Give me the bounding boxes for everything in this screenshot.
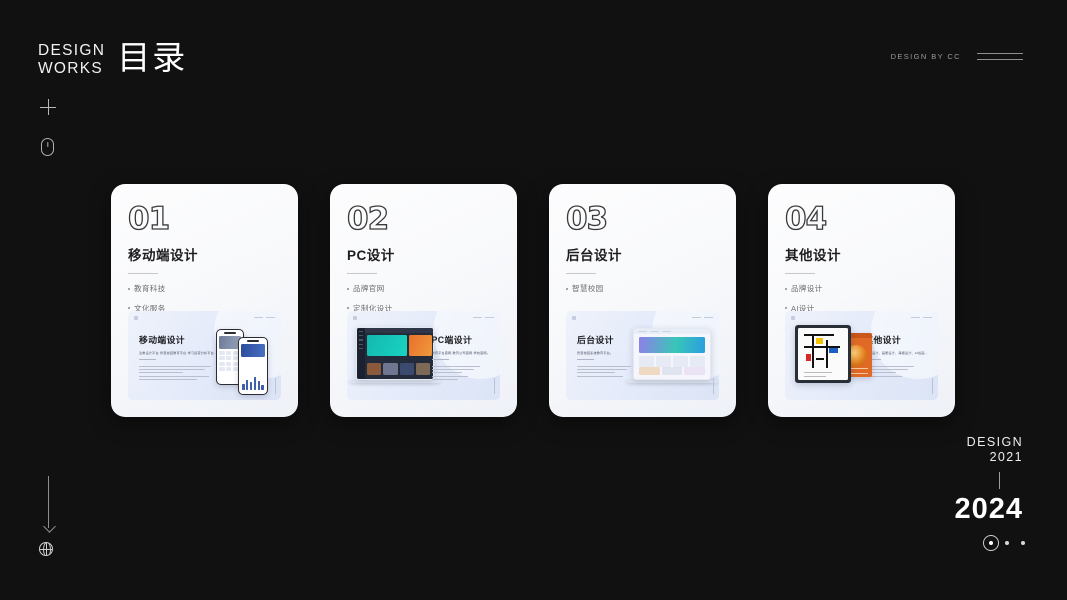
credit-text: DESIGN BY CC (891, 52, 961, 61)
globe-icon[interactable] (39, 542, 53, 556)
pagination[interactable] (989, 541, 1025, 545)
page-title: 目录 (117, 40, 187, 76)
card-bullet: 智慧校园 (566, 285, 719, 293)
card-divider (566, 273, 596, 274)
laptop-mockup (356, 327, 434, 383)
year-divider (999, 472, 1000, 489)
mouse-scroll-icon[interactable] (41, 138, 54, 156)
thumbnail-nav-lines (911, 317, 932, 318)
card-divider (128, 273, 158, 274)
card-bullet-list: 智慧校园 (566, 285, 719, 293)
card-bullet: 教育科技 (128, 285, 281, 293)
design-label: DESIGN (954, 435, 1023, 450)
card-title: PC设计 (347, 244, 500, 264)
thumbnail-subtitle: Logo设计、画册设计、海报设计、AI绘画… (864, 350, 928, 355)
plus-icon[interactable] (40, 99, 56, 115)
thumbnail-body-lines (432, 366, 490, 380)
thumbnail-subtitle: 智慧校园系统教育平台。 (577, 350, 631, 355)
thumbnail-divider (432, 359, 449, 360)
year-current: 2024 (954, 495, 1023, 524)
brand-line-2: WORKS (38, 60, 105, 78)
phone-mockup (238, 337, 268, 395)
thumbnail-side-rule (713, 378, 714, 394)
thumbnail-logo-mark (572, 316, 576, 320)
card-title: 移动端设计 (128, 244, 281, 264)
brand-logo: DESIGN WORKS 目录 (38, 42, 187, 78)
card-bullet: 品牌官网 (347, 285, 500, 293)
brand-line-1: DESIGN (38, 42, 105, 60)
card-bullet-list: 品牌设计 AI设计 (785, 285, 938, 312)
pagination-dot[interactable] (1021, 541, 1025, 545)
card-bullet: 品牌设计 (785, 285, 938, 293)
card-item[interactable]: 02 PC设计 品牌官网 定制化设计 PC端设计 教育平台官网 (330, 184, 517, 417)
thumbnail-logo-mark (791, 316, 795, 320)
card-number: 04 (785, 204, 938, 235)
thumbnail-subtitle: 注重设计平台·智慧校园教育平台·学习运营分析平台… (139, 350, 217, 355)
page-header: DESIGN WORKS 目录 DESIGN BY CC (0, 0, 1067, 110)
year-from: 2021 (954, 450, 1023, 465)
card-title: 后台设计 (566, 244, 719, 264)
tablet-mockup (795, 325, 851, 383)
arrow-down-icon[interactable] (48, 476, 50, 536)
thumbnail-title: 移动端设计 (139, 333, 217, 346)
card-divider (347, 273, 377, 274)
year-block: DESIGN 2021 2024 (954, 435, 1023, 524)
thumbnail-copy: 其他设计 Logo设计、画册设计、海报设计、AI绘画… (864, 333, 928, 379)
thumbnail-copy: 移动端设计 注重设计平台·智慧校园教育平台·学习运营分析平台… (139, 333, 217, 382)
card-number: 02 (347, 204, 500, 235)
thumbnail-nav-lines (692, 317, 713, 318)
card-item[interactable]: 03 后台设计 智慧校园 后台设计 智慧校园系统教育平台。 (549, 184, 736, 417)
thumbnail-side-rule (494, 378, 495, 394)
card-number: 01 (128, 204, 281, 235)
card-number: 03 (566, 204, 719, 235)
thumbnail-nav-lines (254, 317, 275, 318)
thumbnail-title: PC端设计 (432, 333, 490, 346)
thumbnail-logo-mark (134, 316, 138, 320)
card-thumbnail[interactable]: 其他设计 Logo设计、画册设计、海报设计、AI绘画… (785, 311, 938, 400)
pagination-dot[interactable] (1005, 541, 1009, 545)
card-thumbnail[interactable]: 后台设计 智慧校园系统教育平台。 (566, 311, 719, 400)
thumbnail-divider (577, 359, 594, 360)
card-item[interactable]: 04 其他设计 品牌设计 AI设计 (768, 184, 955, 417)
card-bullet-list: 品牌官网 定制化设计 (347, 285, 500, 312)
thumbnail-title: 其他设计 (864, 333, 928, 346)
card-title: 其他设计 (785, 244, 938, 264)
thumbnail-subtitle: 教育平台官网·教育公司官网·学校官网。 (432, 350, 490, 355)
thumbnail-logo-mark (353, 316, 357, 320)
thumbnail-side-rule (275, 378, 276, 394)
card-list: 01 移动端设计 教育科技 文化服务 移动端设计 注重设计平台·智慧校园教育平台… (111, 184, 955, 417)
card-bullet-list: 教育科技 文化服务 (128, 285, 281, 312)
thumbnail-nav-lines (473, 317, 494, 318)
card-item[interactable]: 01 移动端设计 教育科技 文化服务 移动端设计 注重设计平台·智慧校园教育平台… (111, 184, 298, 417)
laptop-mockup (633, 328, 711, 383)
thumbnail-copy: PC端设计 教育平台官网·教育公司官网·学校官网。 (432, 333, 490, 382)
credit-block: DESIGN BY CC (891, 52, 1023, 61)
thumbnail-body-lines (864, 366, 928, 377)
thumbnail-body-lines (577, 366, 631, 377)
thumbnail-title: 后台设计 (577, 333, 631, 346)
card-divider (785, 273, 815, 274)
credit-rule-lines (977, 53, 1023, 60)
thumbnail-divider (139, 359, 156, 360)
thumbnail-copy: 后台设计 智慧校园系统教育平台。 (577, 333, 631, 379)
pagination-dot-active[interactable] (989, 541, 993, 545)
card-thumbnail[interactable]: 移动端设计 注重设计平台·智慧校园教育平台·学习运营分析平台… (128, 311, 281, 400)
thumbnail-body-lines (139, 366, 217, 380)
card-thumbnail[interactable]: PC端设计 教育平台官网·教育公司官网·学校官网。 (347, 311, 500, 400)
thumbnail-side-rule (932, 378, 933, 394)
